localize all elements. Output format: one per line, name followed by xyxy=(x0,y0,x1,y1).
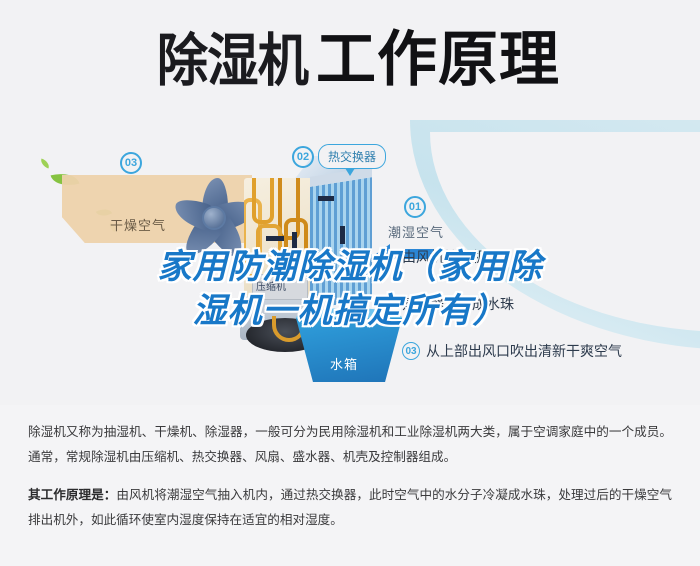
water-tank-label: 水箱 xyxy=(330,354,358,373)
copper-coil xyxy=(252,178,274,224)
page-root: 除湿机工作原理 干燥空气 03 xyxy=(0,0,700,566)
article-body: 除湿机又称为抽湿机、干燥机、除湿器，一般可分为民用除湿机和工业除湿机两大类，属于… xyxy=(0,408,700,566)
page-title: 除湿机工作原理 xyxy=(0,30,700,90)
overlay-line-1: 家用防潮除湿机（家用除 xyxy=(0,245,700,289)
flow-arrow-icon xyxy=(340,226,345,244)
humid-air-label: 潮湿空气 xyxy=(388,222,444,241)
flow-arrow-icon xyxy=(318,196,334,201)
paragraph-2-rest: 由风机将潮湿空气抽入机内，通过热交换器，此时空气中的水分子冷凝成水珠，处理过后的… xyxy=(28,488,672,527)
overlay-watermark: 家用防潮除湿机（家用除 湿机一机搞定所有） xyxy=(0,245,700,333)
title-part-one: 除湿机 xyxy=(157,33,308,90)
badge-03-inline: 03 xyxy=(402,342,420,360)
title-part-two: 工作原理 xyxy=(316,30,560,90)
paragraph-1: 除湿机又称为抽湿机、干燥机、除湿器，一般可分为民用除湿机和工业除湿机两大类，属于… xyxy=(28,420,672,469)
leaf-icon xyxy=(39,159,51,169)
badge-01: 01 xyxy=(404,196,426,218)
badge-02: 02 xyxy=(292,146,314,168)
heat-exchanger-callout: 热交换器 xyxy=(318,144,386,169)
overlay-line-2: 湿机一机搞定所有） xyxy=(0,289,700,333)
dry-air-label: 干燥空气 xyxy=(110,215,166,234)
step-line-3-text: 从上部出风口吹出清新干爽空气 xyxy=(426,341,622,361)
badge-03: 03 xyxy=(120,152,142,174)
fan-hub xyxy=(202,206,226,230)
paragraph-2-lead: 其工作原理是： xyxy=(28,488,116,502)
flow-arrow-icon xyxy=(266,236,284,241)
step-line-3: 03 从上部出风口吹出清新干爽空气 xyxy=(402,341,622,361)
illustration-panel: 除湿机工作原理 干燥空气 03 xyxy=(0,0,700,405)
paragraph-2: 其工作原理是：由风机将潮湿空气抽入机内，通过热交换器，此时空气中的水分子冷凝成水… xyxy=(28,483,672,532)
